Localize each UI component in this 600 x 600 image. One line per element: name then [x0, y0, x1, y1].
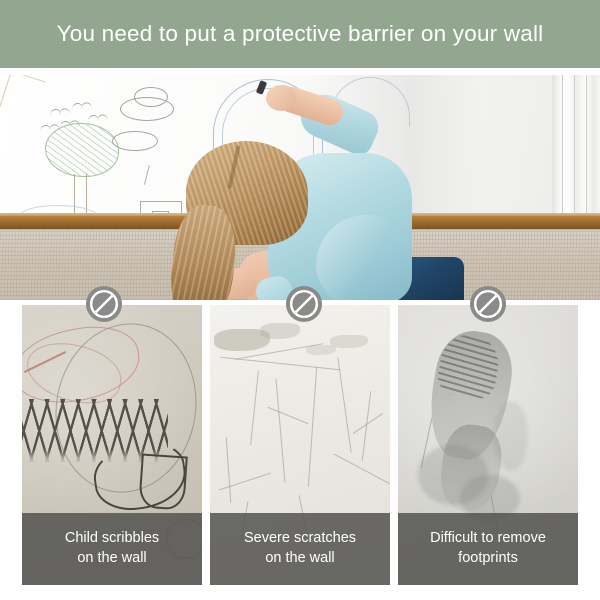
panel-caption: Severe scratches on the wall [210, 513, 390, 585]
paint-peel [260, 323, 300, 339]
panel-footprints: Difficult to remove footprints [398, 305, 578, 585]
scuff-smudge [494, 401, 528, 471]
scribble-mark [138, 453, 188, 510]
caption-line-2: on the wall [65, 549, 159, 569]
caption-line-1: Child scribbles [65, 529, 159, 549]
scratch-mark [267, 407, 308, 425]
scratch-mark [226, 437, 232, 503]
page-title: You need to put a protective barrier on … [57, 23, 544, 46]
paint-peel [330, 335, 368, 348]
no-symbol-icon [469, 285, 507, 323]
crayon-bird [72, 103, 83, 110]
no-symbol-icon [285, 285, 323, 323]
crayon-bird [40, 125, 51, 132]
crayon-bird [50, 109, 61, 116]
panel-severe-scratches: Severe scratches on the wall [210, 305, 390, 585]
crayon-cloud [112, 131, 158, 151]
door-trim [552, 75, 600, 226]
scratch-mark [337, 357, 352, 452]
caption-line-1: Difficult to remove [430, 529, 546, 549]
panel-caption: Difficult to remove footprints [398, 513, 578, 585]
caption-line-2: on the wall [244, 549, 356, 569]
crayon-cloud [134, 87, 168, 107]
panel-child-scribbles: Child scribbles on the wall [22, 305, 202, 585]
product-infographic-page: You need to put a protective barrier on … [0, 0, 600, 600]
header-banner: You need to put a protective barrier on … [0, 0, 600, 68]
scratch-mark [250, 371, 259, 445]
caption-line-2: footprints [430, 549, 546, 569]
scratch-mark [275, 379, 285, 483]
caption-line-1: Severe scratches [244, 529, 356, 549]
no-symbol-icon [85, 285, 123, 323]
scratch-mark [308, 367, 318, 487]
scratch-mark [219, 473, 271, 491]
crayon-bird [88, 115, 99, 122]
crayon-bird [60, 121, 71, 128]
panel-caption: Child scribbles on the wall [22, 513, 202, 585]
hero-photo [0, 75, 600, 300]
problem-panels-row: Child scribbles on the wall [22, 305, 578, 585]
